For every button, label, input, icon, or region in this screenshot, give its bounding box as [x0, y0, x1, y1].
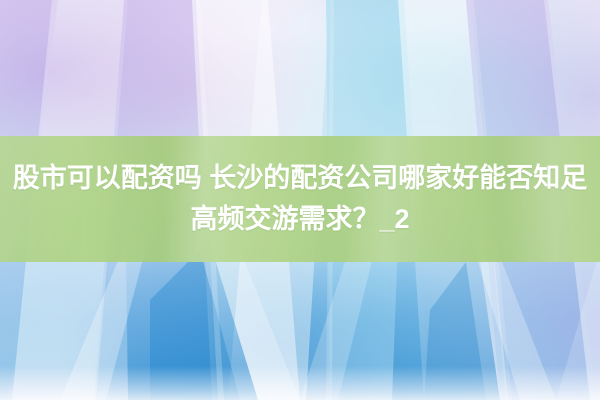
banner-title: 股市可以配资吗 长沙的配资公司哪家好能否知足高频交游需求？_2 [0, 158, 600, 240]
title-banner: 股市可以配资吗 长沙的配资公司哪家好能否知足高频交游需求？_2 [0, 136, 600, 262]
banner-image: 股市可以配资吗 长沙的配资公司哪家好能否知足高频交游需求？_2 [0, 0, 600, 400]
banner-title-line-2: 频交游需求？_2 [217, 204, 409, 234]
